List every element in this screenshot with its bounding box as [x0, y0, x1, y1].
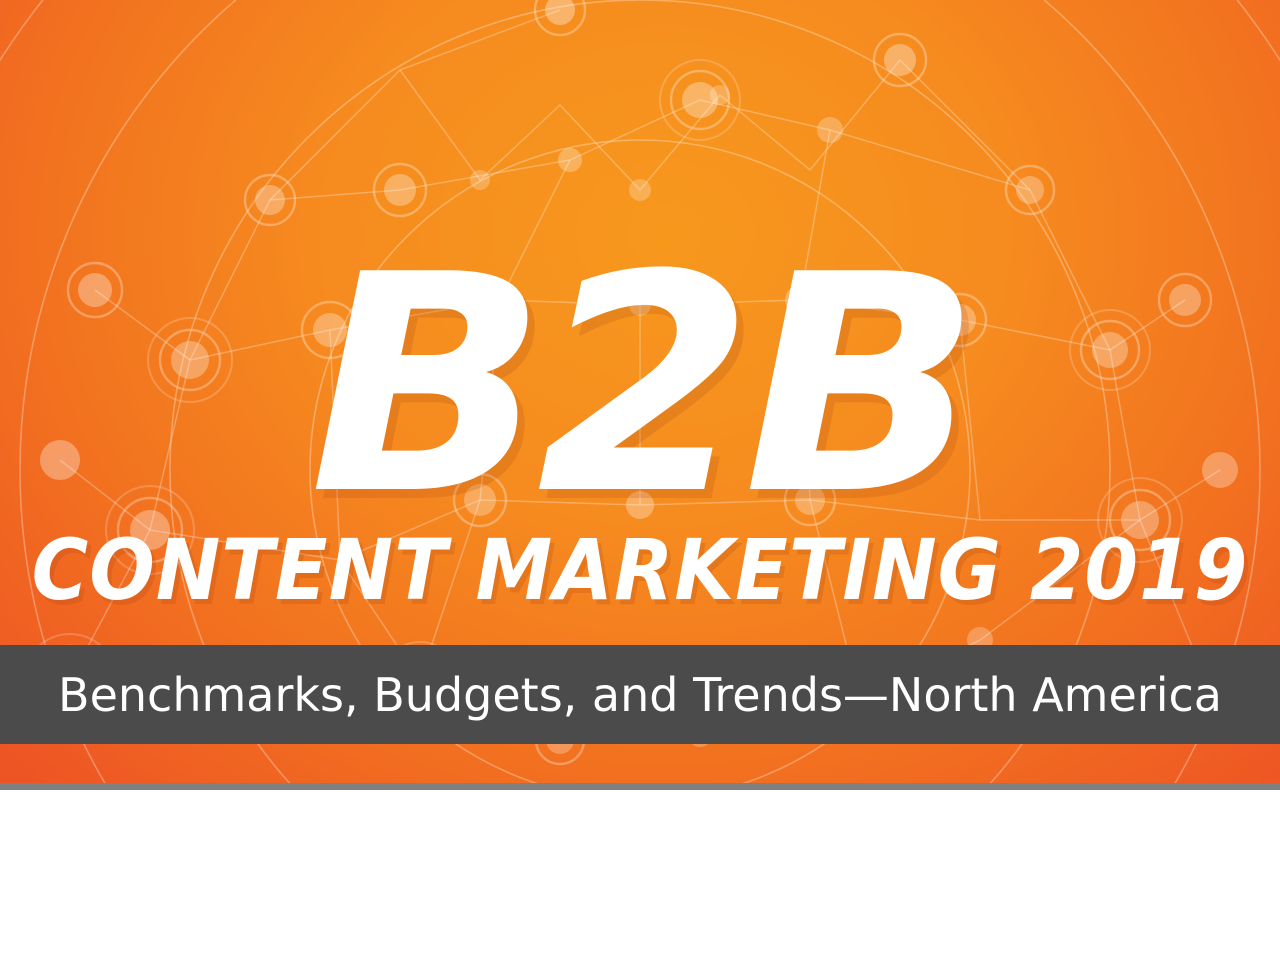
- subtitle-text: Benchmarks, Budgets, and Trends—North Am…: [0, 645, 1280, 744]
- footer-logos: CONTENT MARKETING INSTITUTE™ A UBM COMPA…: [0, 790, 1280, 960]
- b2b-logo-text: B2B: [0, 236, 1280, 536]
- subtitle-band: Benchmarks, Budgets, and Trends—North Am…: [0, 645, 1280, 744]
- page-title: CONTENT MARKETING 2019: [0, 528, 1280, 612]
- slide-cover: B2B CONTENT MARKETING 2019 Benchmarks, B…: [0, 0, 1280, 960]
- hero-separator: [0, 783, 1280, 790]
- hero-background: B2B CONTENT MARKETING 2019 Benchmarks, B…: [0, 0, 1280, 783]
